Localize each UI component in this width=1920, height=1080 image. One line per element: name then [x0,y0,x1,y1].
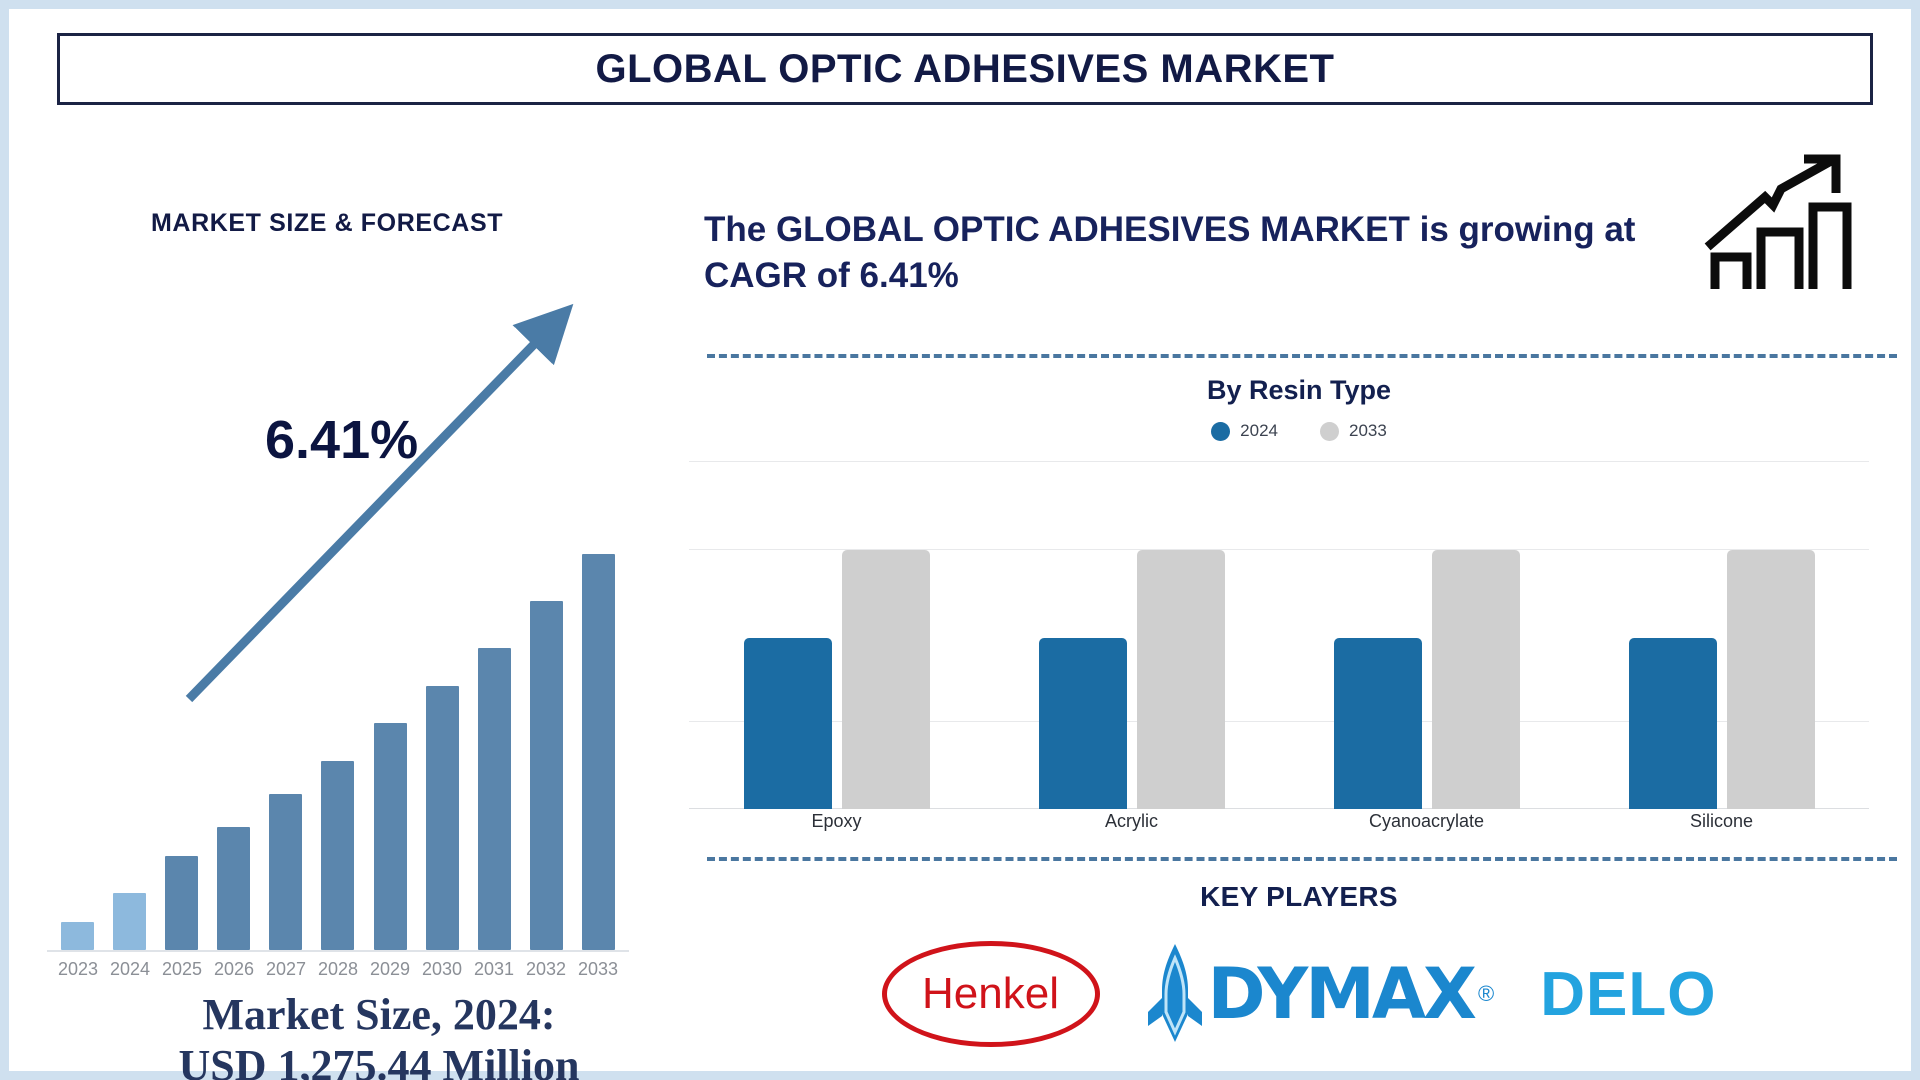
resin-category-labels: EpoxyAcrylicCyanoacrylateSilicone [689,811,1869,832]
page-title: GLOBAL OPTIC ADHESIVES MARKET [596,47,1335,92]
key-players-title: KEY PLAYERS [689,881,1909,913]
right-panel: The GLOBAL OPTIC ADHESIVES MARKET is gro… [689,129,1909,1069]
market-size-bar [269,794,302,950]
market-size-year-label: 2033 [575,959,621,980]
legend-item[interactable]: 2024 [1211,421,1278,441]
logo-dymax: DYMAX ® [1146,942,1495,1046]
resin-bar [1432,550,1520,809]
resin-bar-group [1039,550,1225,809]
legend-label: 2024 [1240,421,1278,441]
market-size-bar [426,686,459,950]
legend-item[interactable]: 2033 [1320,421,1387,441]
logo-delo-label: DELO [1540,960,1716,1029]
resin-bar-groups [689,459,1869,809]
market-size-year-labels: 2023202420252026202720282029203020312032… [47,954,629,984]
divider-top [707,354,1897,358]
logo-dymax-registered: ® [1478,981,1494,1007]
market-size-forecast-label: MARKET SIZE & FORECAST [151,209,503,238]
market-size-bar [113,893,146,950]
left-panel: MARKET SIZE & FORECAST 6.41% 20232024202… [29,129,749,1059]
resin-category-label: Cyanoacrylate [1334,811,1520,832]
rocket-icon [1146,942,1204,1046]
market-size-year-label: 2025 [159,959,205,980]
logo-dymax-label: DYMAX [1208,953,1475,1035]
market-size-line-1: Market Size, 2024: [29,989,729,1040]
market-size-year-label: 2027 [263,959,309,980]
resin-bar [1727,550,1815,809]
market-size-year-label: 2029 [367,959,413,980]
market-size-year-label: 2031 [471,959,517,980]
legend-color-swatch [1320,422,1339,441]
resin-bar [1629,638,1717,810]
market-size-value: Market Size, 2024: USD 1,275.44 Million [29,989,729,1080]
market-size-line-2: USD 1,275.44 Million [29,1040,729,1080]
resin-bar-group [1334,550,1520,809]
resin-bar [1137,550,1225,809]
resin-bar [744,638,832,810]
logo-henkel-label: Henkel [922,969,1059,1019]
market-size-bar [321,761,354,950]
market-size-year-label: 2032 [523,959,569,980]
resin-bar-group [1629,550,1815,809]
legend-label: 2033 [1349,421,1387,441]
resin-type-chart: EpoxyAcrylicCyanoacrylateSilicone [689,459,1909,851]
market-size-year-label: 2030 [419,959,465,980]
market-size-bar [582,554,615,950]
resin-bar [842,550,930,809]
market-size-year-label: 2026 [211,959,257,980]
market-size-bar [165,856,198,950]
cagr-headline: The GLOBAL OPTIC ADHESIVES MARKET is gro… [704,207,1704,298]
resin-category-label: Epoxy [744,811,930,832]
market-size-year-label: 2024 [107,959,153,980]
resin-bar [1334,638,1422,810]
title-box: GLOBAL OPTIC ADHESIVES MARKET [57,33,1873,105]
bar-chart-growth-icon [1703,149,1853,294]
market-size-bar [217,827,250,950]
logo-delo: DELO [1540,959,1716,1030]
infographic-canvas: GLOBAL OPTIC ADHESIVES MARKET MARKET SIZ… [9,9,1911,1071]
left-chart-axis [47,950,629,952]
key-players-logos: Henkel DYMAX ® DELO [689,929,1909,1059]
resin-chart-title: By Resin Type [689,375,1909,406]
resin-category-label: Acrylic [1039,811,1225,832]
resin-category-label: Silicone [1629,811,1815,832]
resin-bar [1039,638,1127,810]
market-size-year-label: 2023 [55,959,101,980]
market-size-bar [530,601,563,950]
market-size-bar [478,648,511,950]
logo-henkel: Henkel [882,941,1100,1047]
resin-bar-group [744,550,930,809]
infographic-page: GLOBAL OPTIC ADHESIVES MARKET MARKET SIZ… [0,0,1920,1080]
market-size-forecast-chart: 2023202420252026202720282029203020312032… [47,474,629,984]
resin-chart-legend: 20242033 [689,421,1909,441]
market-size-bar [61,922,94,950]
legend-color-swatch [1211,422,1230,441]
market-size-bar [374,723,407,950]
market-size-bars [47,478,629,950]
market-size-year-label: 2028 [315,959,361,980]
divider-bottom [707,857,1897,861]
